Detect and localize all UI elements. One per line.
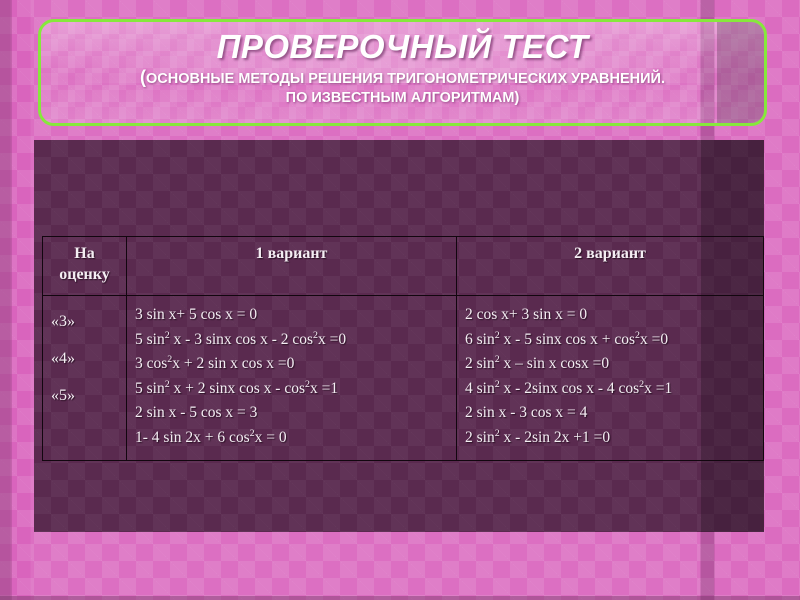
equations-cell-variant-1: 3 sin x+ 5 cos x = 05 sin2 x - 3 sinx co… [127,296,457,461]
column-header-grade: На оценку [43,237,127,296]
grade-label: «3» [51,303,126,340]
slide: ПРОВЕРОЧНЫЙ ТЕСТ (ОСНОВНЫЕ МЕТОДЫ РЕШЕНИ… [0,0,800,600]
equation-line: 2 sin2 x – sin x cosx =0 [465,352,763,377]
table-row: «3»«4»«5»3 sin x+ 5 cos x = 05 sin2 x - … [43,296,764,461]
column-header-variant-2: 2 вариант [457,237,764,296]
bottom-edge-stripe [0,596,800,600]
equation-line: 5 sin2 x - 3 sinx cos x - 2 cos2x =0 [135,328,456,353]
column-header-grade-line2: оценку [59,266,110,283]
equation-line: 3 cos2x + 2 sin x cos x =0 [135,352,456,377]
grade-label: «5» [51,377,126,414]
equation-line: 1- 4 sin 2x + 6 cos2x = 0 [135,426,456,451]
table-header: На оценку 1 вариант 2 вариант [43,237,764,296]
equation-line: 5 sin2 x + 2 sinx cos x - cos2x =1 [135,377,456,402]
title-banner: ПРОВЕРОЧНЫЙ ТЕСТ (ОСНОВНЫЕ МЕТОДЫ РЕШЕНИ… [38,19,767,126]
equation-line: 2 sin2 x - 2sin 2x +1 =0 [465,426,763,451]
equation-line: 2 sin x - 5 cos x = 3 [135,401,456,426]
equation-line: 2 sin x - 3 cos x = 4 [465,401,763,426]
grade-column-cell: «3»«4»«5» [43,296,127,461]
test-table: На оценку 1 вариант 2 вариант «3»«4»«5»3… [42,236,764,461]
equation-line: 6 sin2 x - 5 sinx cos x + cos2x =0 [465,328,763,353]
subtitle-line-1: ОСНОВНЫЕ МЕТОДЫ РЕШЕНИЯ ТРИГОНОМЕТРИЧЕСК… [146,71,665,87]
grade-label: «4» [51,340,126,377]
page-title: ПРОВЕРОЧНЫЙ ТЕСТ [41,28,764,66]
column-header-grade-line1: На [74,245,94,262]
equations-cell-variant-2: 2 cos x+ 3 sin x = 06 sin2 x - 5 sinx co… [457,296,764,461]
column-header-variant-1: 1 вариант [127,237,457,296]
equation-line: 4 sin2 x - 2sinx cos x - 4 cos2x =1 [465,377,763,402]
table-header-row: На оценку 1 вариант 2 вариант [43,237,764,296]
page-subtitle: (ОСНОВНЫЕ МЕТОДЫ РЕШЕНИЯ ТРИГОНОМЕТРИЧЕС… [51,68,754,108]
test-table-wrapper: На оценку 1 вариант 2 вариант «3»«4»«5»3… [42,236,763,461]
content-panel: На оценку 1 вариант 2 вариант «3»«4»«5»3… [34,140,764,532]
equation-line: 2 cos x+ 3 sin x = 0 [465,303,763,328]
subtitle-line-2: ПО ИЗВЕСТНЫМ АЛГОРИТМАМ) [286,90,520,106]
table-body: «3»«4»«5»3 sin x+ 5 cos x = 05 sin2 x - … [43,296,764,461]
left-edge-stripe [0,0,12,600]
equation-line: 3 sin x+ 5 cos x = 0 [135,303,456,328]
